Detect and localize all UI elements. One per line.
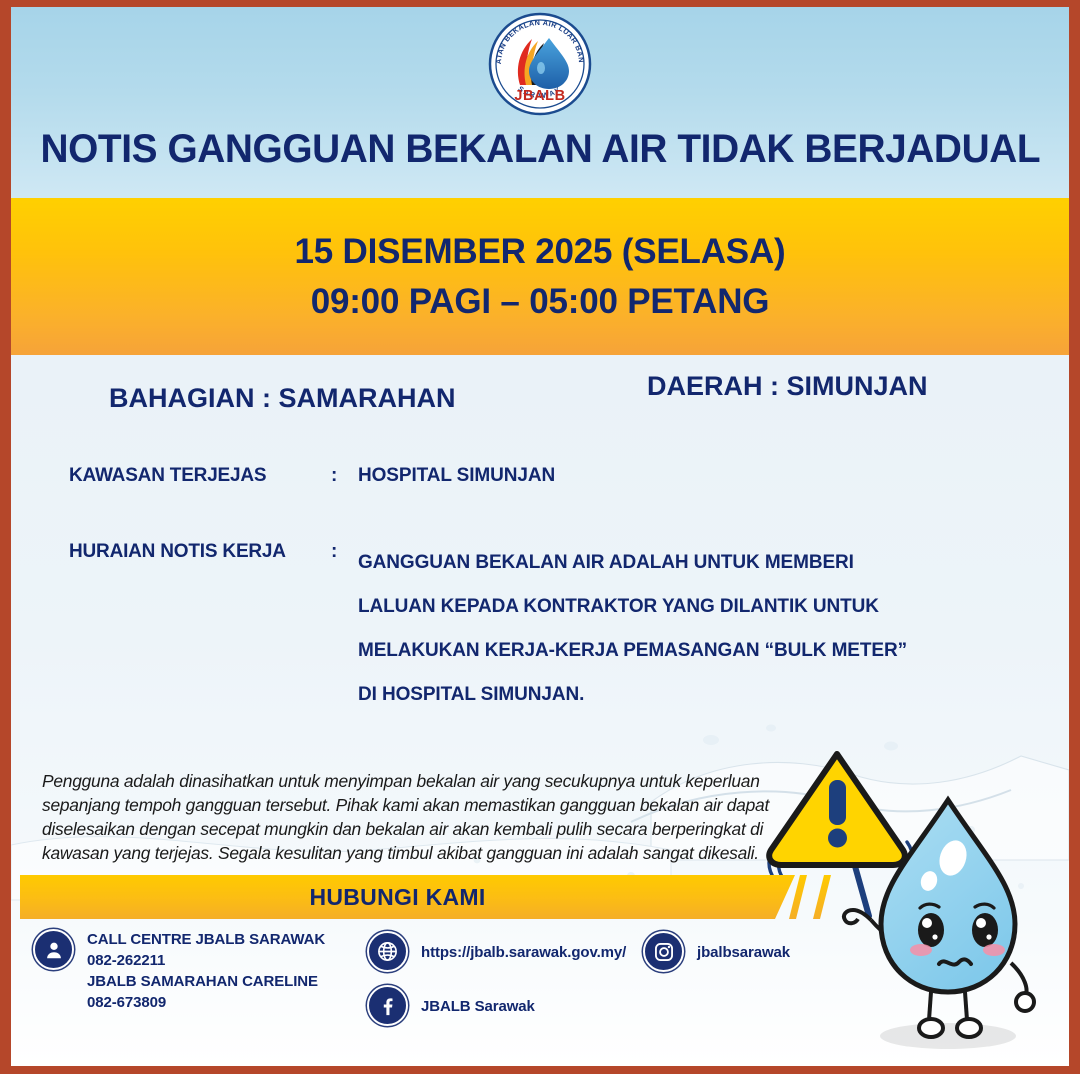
call-centre-text: CALL CENTRE JBALB SARAWAK 082-262211 JBA…: [87, 929, 325, 1013]
globe-icon: [367, 931, 408, 972]
huraian-line: GANGGUAN BEKALAN AIR ADALAH UNTUK MEMBER…: [358, 541, 907, 585]
call-centre-line1: CALL CENTRE JBALB SARAWAK: [87, 931, 325, 948]
region-row: BAHAGIAN : SAMARAHAN DAERAH : SIMUNJAN: [11, 383, 1069, 433]
huraian-line: MELAKUKAN KERJA-KERJA PEMASANGAN “BULK M…: [358, 629, 907, 673]
outage-time: 09:00 PAGI – 05:00 PETANG: [311, 277, 770, 327]
huraian-lines: GANGGUAN BEKALAN AIR ADALAH UNTUK MEMBER…: [358, 541, 907, 717]
outage-date: 15 DISEMBER 2025 (SELASA): [295, 227, 786, 277]
notice-poster: JABATAN BEKALAN AIR LUAR BANDAR SARAWAK …: [0, 0, 1080, 1074]
call-centre-line3: JBALB SAMARAHAN CARELINE: [87, 973, 318, 990]
instagram-icon: [643, 931, 684, 972]
call-centre-line2: 082-262211: [87, 952, 165, 969]
jbalb-logo: JABATAN BEKALAN AIR LUAR BANDAR SARAWAK …: [487, 11, 593, 117]
daerah-label: DAERAH : SIMUNJAN: [647, 371, 928, 402]
page-title: NOTIS GANGGUAN BEKALAN AIR TIDAK BERJADU…: [40, 127, 1040, 172]
body-area: BAHAGIAN : SAMARAHAN DAERAH : SIMUNJAN K…: [11, 355, 1069, 1066]
contact-banner-bar: HUBUNGI KAMI: [20, 875, 795, 919]
contact-website[interactable]: https://jbalb.sarawak.gov.my/: [367, 931, 626, 972]
contacts-section: CALL CENTRE JBALB SARAWAK 082-262211 JBA…: [11, 929, 1069, 1049]
kawasan-label: KAWASAN TERJEJAS: [69, 465, 266, 487]
kawasan-value: HOSPITAL SIMUNJAN: [358, 465, 555, 487]
instagram-label: jbalbsarawak: [697, 931, 790, 963]
huraian-label: HURAIAN NOTIS KERJA: [69, 541, 286, 563]
date-band: 15 DISEMBER 2025 (SELASA) 09:00 PAGI – 0…: [11, 198, 1069, 355]
call-centre-line4: 082-673809: [87, 994, 166, 1011]
header-band: JABATAN BEKALAN AIR LUAR BANDAR SARAWAK …: [11, 7, 1069, 198]
facebook-label: JBALB Sarawak: [421, 985, 535, 1017]
contact-banner-title: HUBUNGI KAMI: [309, 884, 505, 911]
bahagian-label: BAHAGIAN : SAMARAHAN: [109, 383, 455, 414]
user-icon: [33, 929, 74, 970]
facebook-icon: [367, 985, 408, 1026]
advisory-paragraph: Pengguna adalah dinasihatkan untuk menyi…: [42, 770, 787, 865]
contact-call-centre[interactable]: CALL CENTRE JBALB SARAWAK 082-262211 JBA…: [33, 929, 325, 1013]
contact-banner: HUBUNGI KAMI: [11, 875, 1069, 919]
contact-facebook[interactable]: JBALB Sarawak: [367, 985, 535, 1026]
huraian-colon: :: [331, 541, 337, 563]
banner-chevron-decoration: [813, 875, 831, 919]
kawasan-colon: :: [331, 465, 337, 487]
svg-text:JBALB: JBALB: [514, 88, 565, 104]
huraian-line: LALUAN KEPADA KONTRAKTOR YANG DILANTIK U…: [358, 585, 907, 629]
website-label: https://jbalb.sarawak.gov.my/: [421, 931, 626, 963]
huraian-line: DI HOSPITAL SIMUNJAN.: [358, 673, 907, 717]
page-title-row: NOTIS GANGGUAN BEKALAN AIR TIDAK BERJADU…: [11, 127, 1069, 172]
contact-instagram[interactable]: jbalbsarawak: [643, 931, 790, 972]
